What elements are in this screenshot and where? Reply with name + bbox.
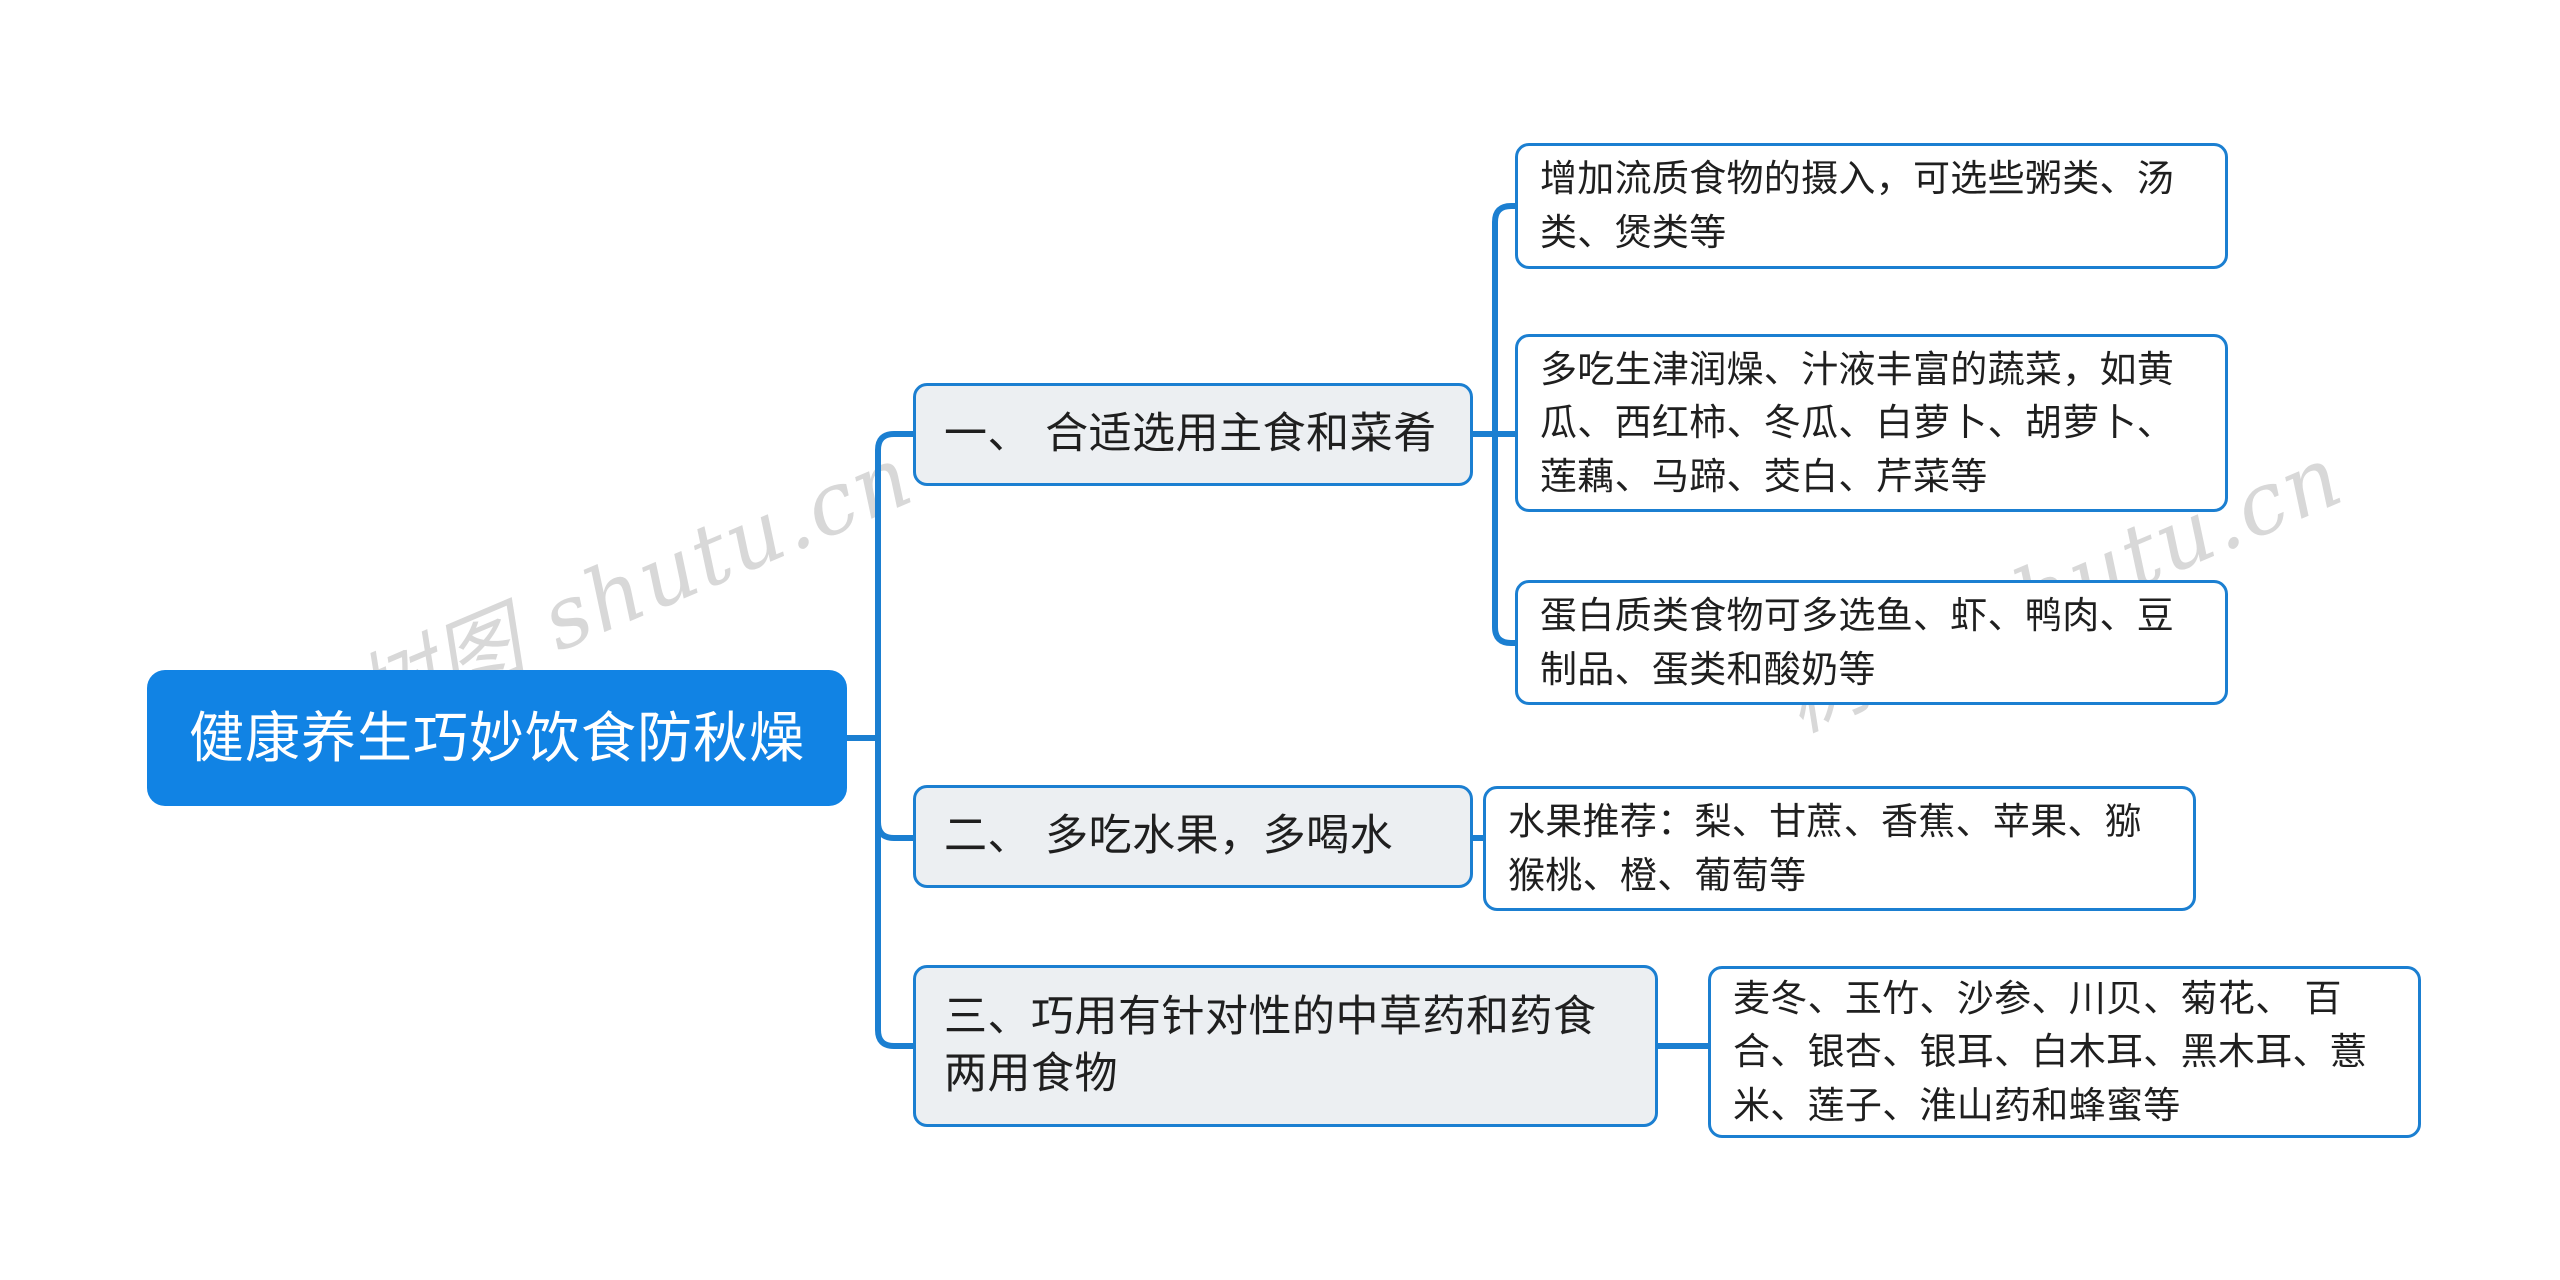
connector-root-branch-3	[878, 738, 913, 1046]
connector-branch1-leaf-3	[1495, 434, 1515, 643]
leaf-node-3-1[interactable]: 麦冬、玉竹、沙参、川贝、菊花、 百合、银杏、银耳、白木耳、黑木耳、薏米、莲子、淮…	[1708, 966, 2421, 1138]
leaf-node-2-1[interactable]: 水果推荐：梨、甘蔗、香蕉、苹果、猕猴桃、橙、葡萄等	[1483, 786, 2196, 911]
connector-branch1-leaf-1	[1495, 206, 1515, 434]
leaf-node-1-2-label: 多吃生津润燥、汁液丰富的蔬菜，如黄瓜、西红柿、冬瓜、白萝卜、胡萝卜、莲藕、马蹄、…	[1518, 343, 2225, 504]
leaf-node-1-1[interactable]: 增加流质食物的摄入，可选些粥类、汤类、煲类等	[1515, 143, 2228, 269]
branch-node-3-label: 三、巧用有针对性的中草药和药食两用食物	[916, 989, 1655, 1103]
branch-node-2-label: 二、 多吃水果，多喝水	[916, 808, 1470, 865]
branch-node-1-label: 一、 合适选用主食和菜肴	[916, 406, 1470, 463]
mindmap-canvas: 树图 shutu.cn 树图 shutu.cn 健康养生巧妙饮食防秋燥 一、 合…	[0, 0, 2560, 1280]
leaf-node-3-1-label: 麦冬、玉竹、沙参、川贝、菊花、 百合、银杏、银耳、白木耳、黑木耳、薏米、莲子、淮…	[1711, 972, 2418, 1133]
leaf-node-1-2[interactable]: 多吃生津润燥、汁液丰富的蔬菜，如黄瓜、西红柿、冬瓜、白萝卜、胡萝卜、莲藕、马蹄、…	[1515, 334, 2228, 512]
leaf-node-1-3-label: 蛋白质类食物可多选鱼、虾、鸭肉、豆制品、蛋类和酸奶等	[1518, 589, 2225, 696]
leaf-node-1-1-label: 增加流质食物的摄入，可选些粥类、汤类、煲类等	[1518, 152, 2225, 259]
branch-node-2[interactable]: 二、 多吃水果，多喝水	[913, 785, 1473, 888]
connector-root-branch-2	[878, 738, 913, 838]
branch-node-1[interactable]: 一、 合适选用主食和菜肴	[913, 383, 1473, 486]
root-node[interactable]: 健康养生巧妙饮食防秋燥	[147, 670, 847, 806]
leaf-node-1-3[interactable]: 蛋白质类食物可多选鱼、虾、鸭肉、豆制品、蛋类和酸奶等	[1515, 580, 2228, 705]
leaf-node-2-1-label: 水果推荐：梨、甘蔗、香蕉、苹果、猕猴桃、橙、葡萄等	[1486, 795, 2193, 902]
root-node-label: 健康养生巧妙饮食防秋燥	[147, 704, 847, 773]
branch-node-3[interactable]: 三、巧用有针对性的中草药和药食两用食物	[913, 965, 1658, 1127]
